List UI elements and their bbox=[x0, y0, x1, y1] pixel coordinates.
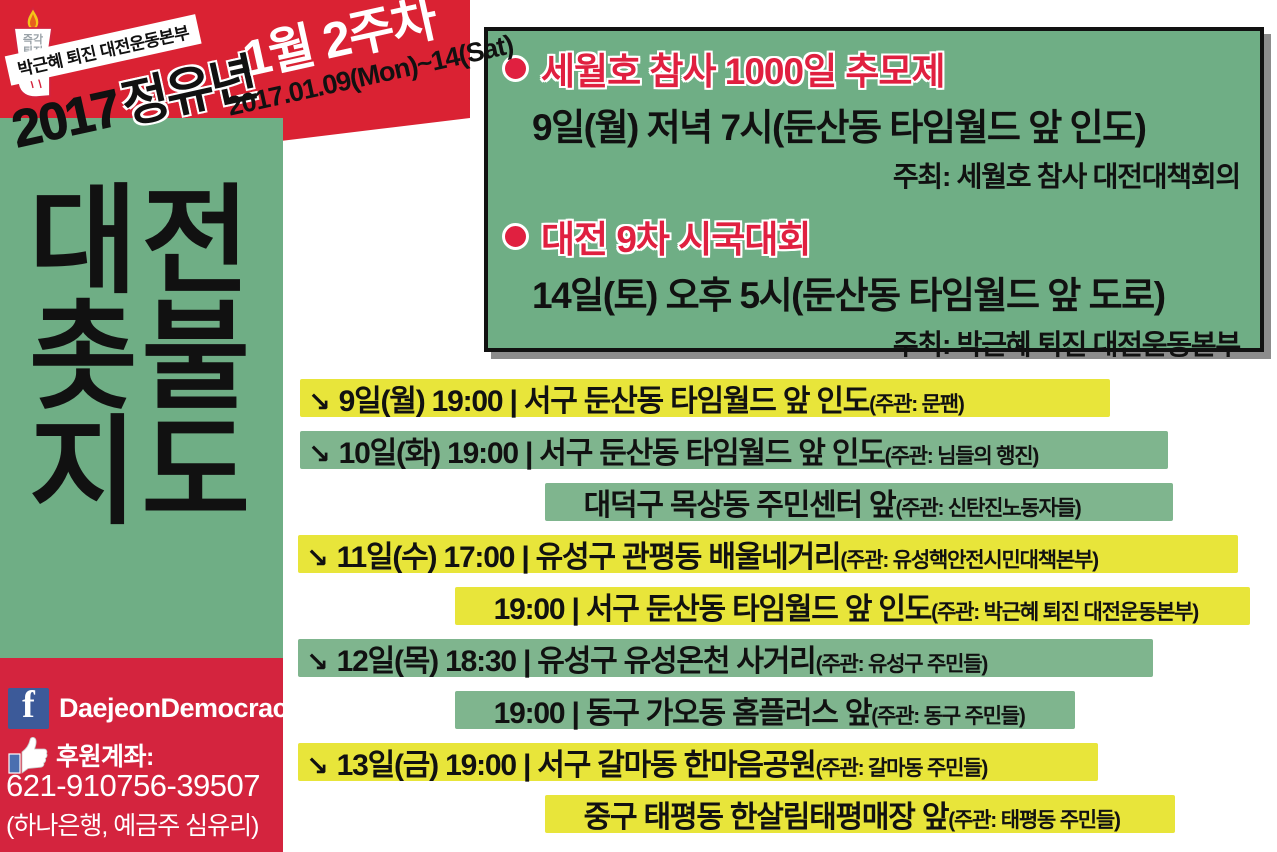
featured-event-1: 대전 9차 시국대회 14일(토) 오후 5시(둔산동 타임월드 앞 도로) 주… bbox=[488, 209, 1260, 363]
schedule-row-host: (주관: 문팬) bbox=[869, 388, 964, 418]
arrow-down-right-icon: ↘ bbox=[306, 753, 329, 780]
featured-event-0-when: 9일(월) 저녁 7시(둔산동 타임월드 앞 인도) bbox=[532, 97, 1260, 151]
featured-event-1-header: 대전 9차 시국대회 bbox=[502, 209, 1260, 263]
schedule-row: ↘19:00 | 서구 둔산동 타임월드 앞 인도(주관: 박근혜 퇴진 대전운… bbox=[0, 580, 1277, 632]
schedule-row-content: ↘중구 태평동 한살림태평매장 앞(주관: 태평동 주민들) bbox=[553, 792, 1120, 836]
schedule-row-text: 19:00 | 서구 둔산동 타임월드 앞 인도 bbox=[494, 584, 932, 628]
arrow-down-right-icon: ↘ bbox=[308, 441, 331, 468]
featured-events-box: 세월호 참사 1000일 추모제 9일(월) 저녁 7시(둔산동 타임월드 앞 … bbox=[484, 27, 1264, 352]
schedule-row: ↘12일(목) 18:30 | 유성구 유성온천 사거리(주관: 유성구 주민들… bbox=[0, 632, 1277, 684]
schedule-row-content: ↘13일(금) 19:00 | 서구 갈마동 한마음공원(주관: 갈마동 주민들… bbox=[306, 740, 987, 784]
schedule-row-host: (주관: 유성구 주민들) bbox=[816, 648, 988, 678]
featured-event-1-host: 주최: 박근혜 퇴진 대전운동본부 bbox=[488, 323, 1240, 363]
page-title-line-2: 촛불 bbox=[0, 301, 283, 417]
schedule-row-content: ↘대덕구 목상동 주민센터 앞(주관: 신탄진노동자들) bbox=[553, 480, 1081, 524]
account-number: 621-910756-39507 bbox=[6, 768, 260, 804]
featured-event-0-host: 주최: 세월호 참사 대전대책회의 bbox=[488, 155, 1240, 195]
page-title-line-3: 지도 bbox=[0, 416, 283, 532]
arrow-down-right-icon: ↘ bbox=[308, 389, 331, 416]
schedule-row-content: ↘11일(수) 17:00 | 유성구 관평동 배울네거리(주관: 유성핵안전시… bbox=[306, 532, 1098, 576]
featured-event-0-header: 세월호 참사 1000일 추모제 bbox=[502, 41, 1260, 95]
featured-event-1-when: 14일(토) 오후 5시(둔산동 타임월드 앞 도로) bbox=[532, 265, 1260, 319]
page-title: 대전 촛불 지도 bbox=[0, 185, 283, 532]
account-bank: (하나은행, 예금주 심유리) bbox=[6, 806, 259, 842]
schedule-row-text: 13일(금) 19:00 | 서구 갈마동 한마음공원 bbox=[337, 740, 816, 784]
arrow-down-right-icon: ↘ bbox=[306, 545, 329, 572]
schedule-row-text: 12일(목) 18:30 | 유성구 유성온천 사거리 bbox=[337, 636, 816, 680]
schedule-row-content: ↘19:00 | 동구 가오동 홈플러스 앞(주관: 동구 주민들) bbox=[463, 688, 1025, 732]
schedule-row-host: (주관: 님들의 행진) bbox=[885, 440, 1039, 470]
poster-canvas: 즉각 퇴진 박근혜 퇴진 대전운동본부 2017 정유년 1월 2주차 2017… bbox=[0, 0, 1277, 852]
schedule-row-host: (주관: 유성핵안전시민대책본부) bbox=[840, 544, 1098, 574]
schedule-row-text: 중구 태평동 한살림태평매장 앞 bbox=[584, 792, 949, 836]
schedule-row-text: 10일(화) 19:00 | 서구 둔산동 타임월드 앞 인도 bbox=[339, 428, 885, 472]
bullet-icon bbox=[502, 223, 529, 250]
featured-event-0-title: 세월호 참사 1000일 추모제 bbox=[541, 41, 945, 95]
schedule-row-host: (주관: 태평동 주민들) bbox=[948, 804, 1120, 834]
facebook-icon[interactable] bbox=[8, 688, 49, 729]
schedule-row-content: ↘19:00 | 서구 둔산동 타임월드 앞 인도(주관: 박근혜 퇴진 대전운… bbox=[463, 584, 1198, 628]
arrow-down-right-icon: ↘ bbox=[306, 649, 329, 676]
schedule-row-text: 대덕구 목상동 주민센터 앞 bbox=[584, 480, 896, 524]
schedule-row-host: (주관: 동구 주민들) bbox=[871, 700, 1025, 730]
schedule-row-text: 11일(수) 17:00 | 유성구 관평동 배울네거리 bbox=[337, 532, 841, 576]
featured-event-1-title: 대전 9차 시국대회 bbox=[541, 209, 810, 263]
schedule-row-text: 9일(월) 19:00 | 서구 둔산동 타임월드 앞 인도 bbox=[339, 376, 870, 420]
featured-event-0: 세월호 참사 1000일 추모제 9일(월) 저녁 7시(둔산동 타임월드 앞 … bbox=[488, 41, 1260, 195]
schedule-row-content: ↘12일(목) 18:30 | 유성구 유성온천 사거리(주관: 유성구 주민들… bbox=[306, 636, 987, 680]
schedule-row-host: (주관: 갈마동 주민들) bbox=[816, 752, 988, 782]
schedule-row-host: (주관: 신탄진노동자들) bbox=[895, 492, 1080, 522]
svg-text:즉각: 즉각 bbox=[23, 32, 43, 46]
schedule-row-content: ↘9일(월) 19:00 | 서구 둔산동 타임월드 앞 인도(주관: 문팬) bbox=[308, 376, 964, 420]
schedule-row-host: (주관: 박근혜 퇴진 대전운동본부) bbox=[931, 596, 1198, 626]
page-title-line-1: 대전 bbox=[0, 185, 283, 301]
facebook-row[interactable]: DaejeonDemocracy bbox=[8, 688, 302, 729]
schedule-row-content: ↘10일(화) 19:00 | 서구 둔산동 타임월드 앞 인도(주관: 님들의… bbox=[308, 428, 1038, 472]
facebook-page-name: DaejeonDemocracy bbox=[59, 693, 302, 724]
schedule-row-text: 19:00 | 동구 가오동 홈플러스 앞 bbox=[494, 688, 872, 732]
